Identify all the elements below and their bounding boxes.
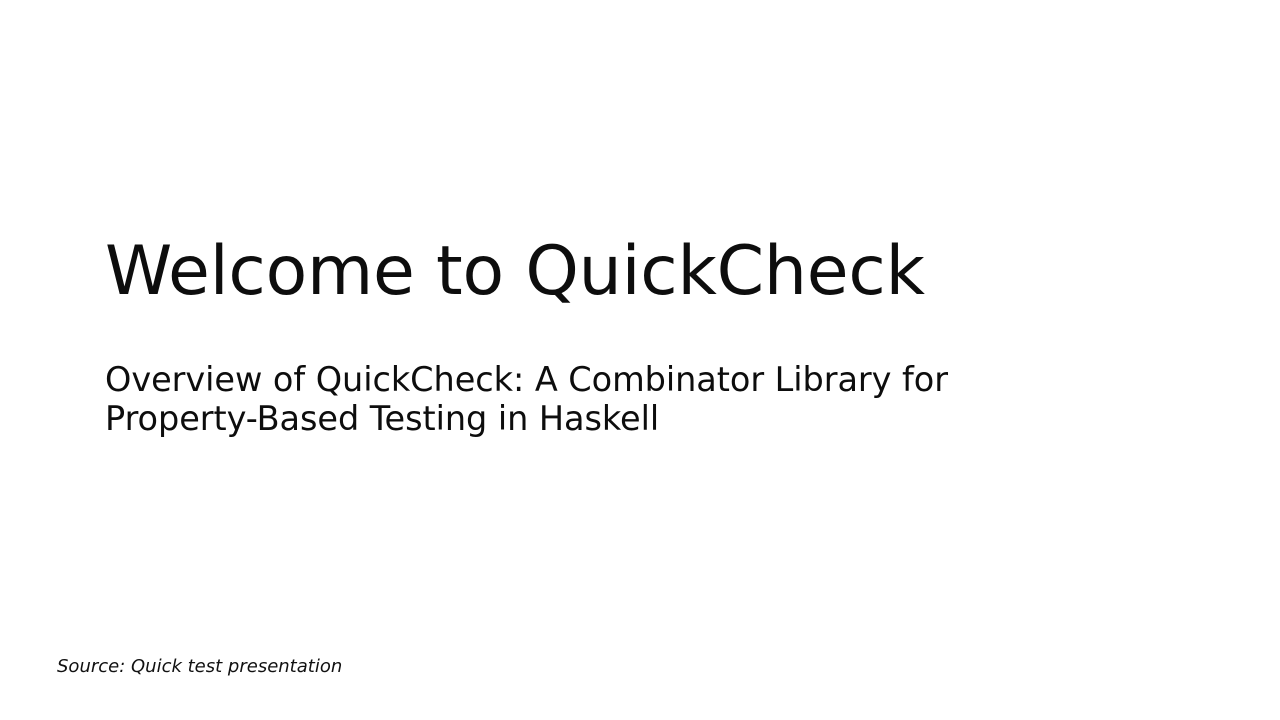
presentation-slide: Welcome to QuickCheck Overview of QuickC… [0, 0, 1280, 720]
page-title: Welcome to QuickCheck [105, 236, 1115, 308]
source-note: Source: Quick test presentation [57, 656, 342, 678]
slide-text-block: Welcome to QuickCheck Overview of QuickC… [105, 236, 1115, 438]
slide-subtitle: Overview of QuickCheck: A Combinator Lib… [105, 361, 1105, 438]
